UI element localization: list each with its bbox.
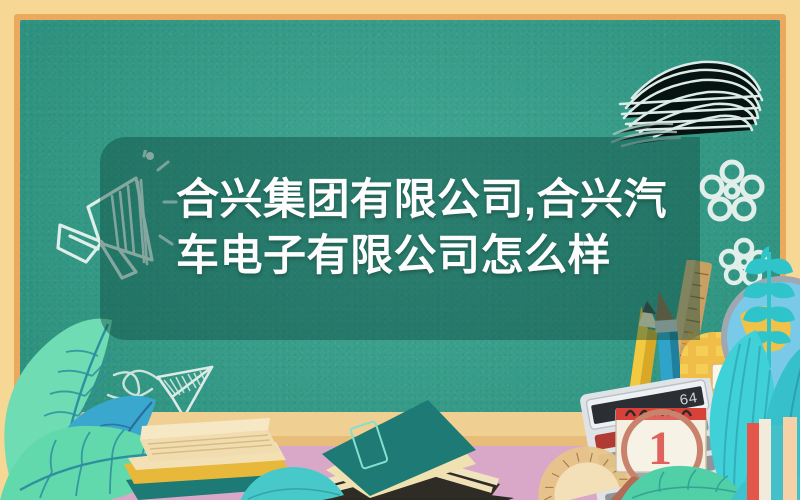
page-title: 合兴集团有限公司,合兴汽车电子有限公司怎么样	[176, 172, 736, 284]
notebooks-right	[745, 415, 800, 500]
leaf-small-bottom-left	[240, 455, 360, 500]
banner-canvas: TEAMSCHOOL 64	[0, 0, 800, 500]
cloud-scribble-icon	[610, 38, 780, 148]
page-title-line-2: 车电子有限公司怎么样	[176, 232, 611, 280]
page-title-line-1: 合兴集团有限公司,合兴汽	[176, 176, 667, 224]
